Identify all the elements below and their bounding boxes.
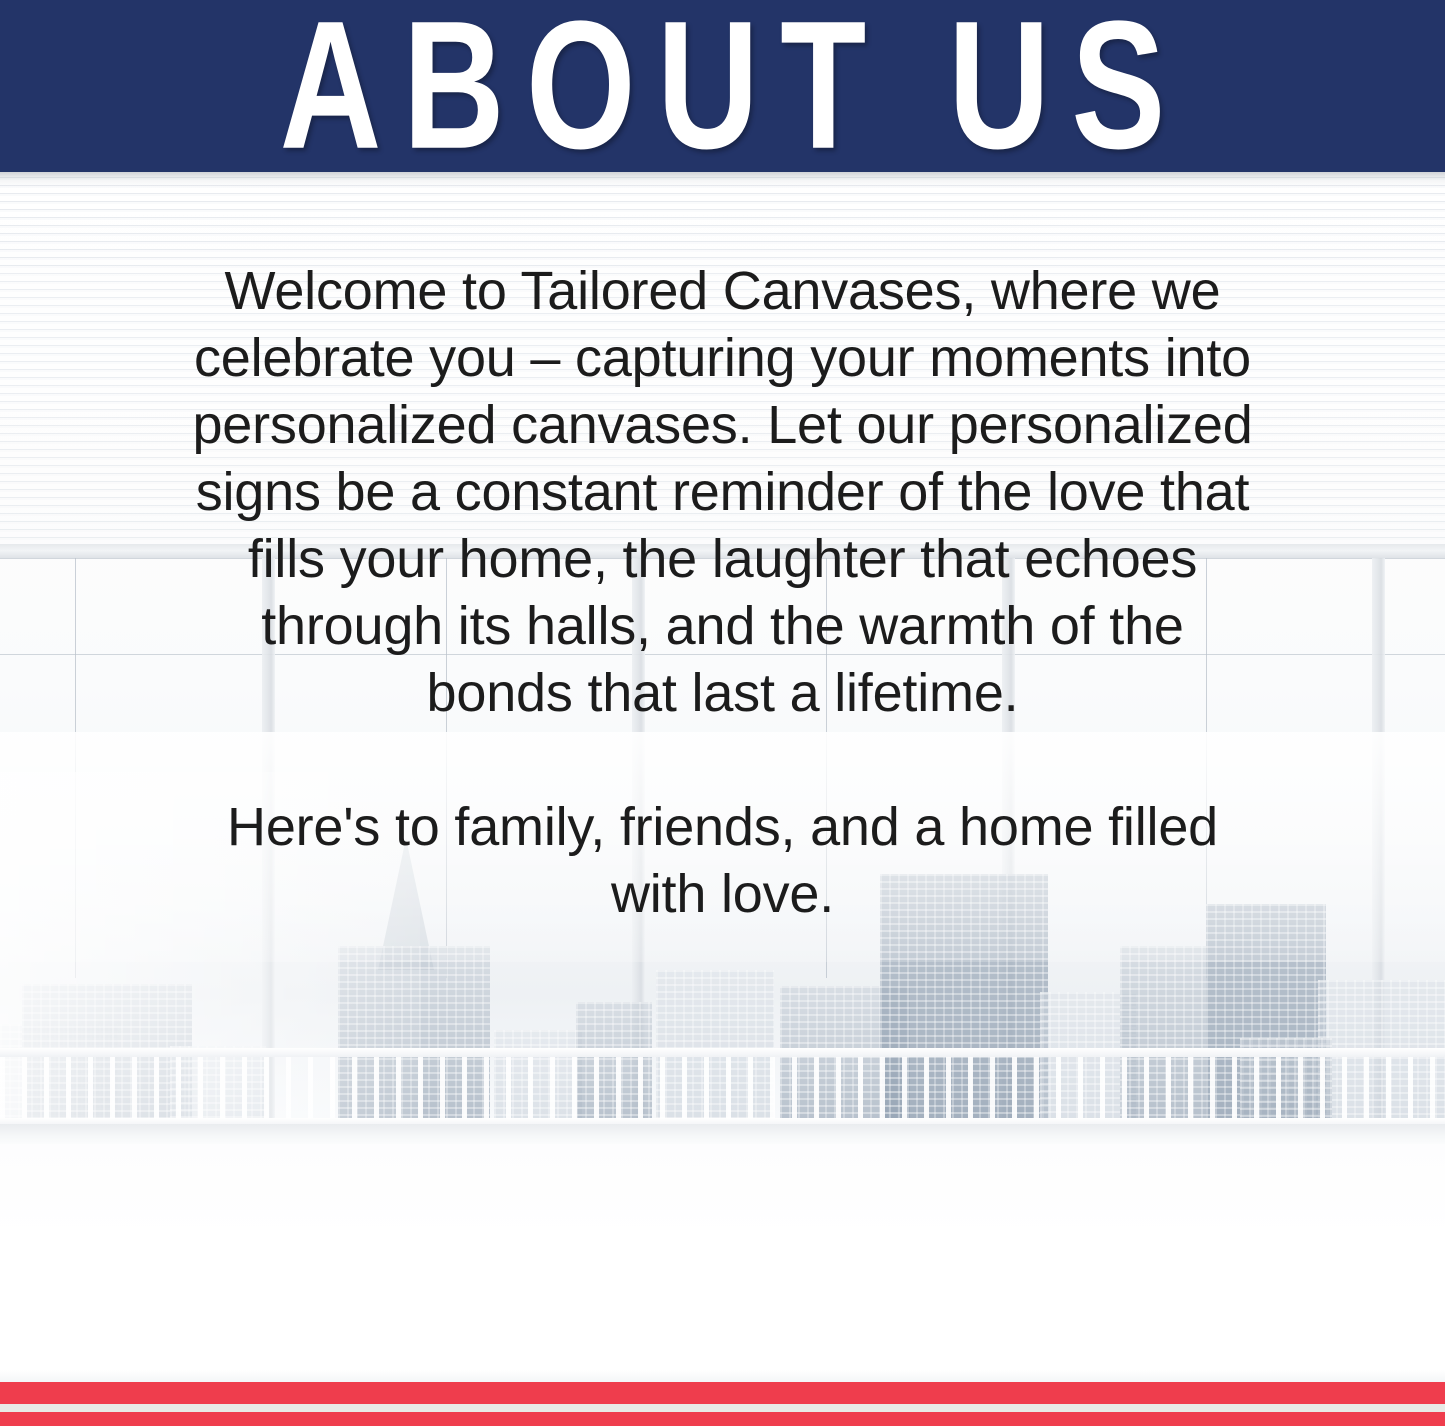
footer-bar-upper [0, 1382, 1445, 1404]
about-us-banner: ABOUT US [0, 0, 1445, 172]
signature-block: Harley Founder of Tailored Canvases [0, 1048, 1445, 1338]
about-us-card: ABOUT US Welcome to Tailored Canvases, w… [0, 0, 1445, 1426]
footer-bar-gap [0, 1404, 1445, 1412]
page-title: ABOUT US [130, 0, 1315, 172]
paragraph-2: Here's to family, friends, and a home fi… [190, 794, 1255, 928]
footer-bar-lower [0, 1412, 1445, 1426]
banner-drop-shadow [0, 172, 1445, 188]
paragraph-1: Welcome to Tailored Canvases, where we c… [190, 258, 1255, 727]
about-us-body-text: Welcome to Tailored Canvases, where we c… [190, 258, 1255, 928]
footer-fade [0, 1370, 1445, 1382]
